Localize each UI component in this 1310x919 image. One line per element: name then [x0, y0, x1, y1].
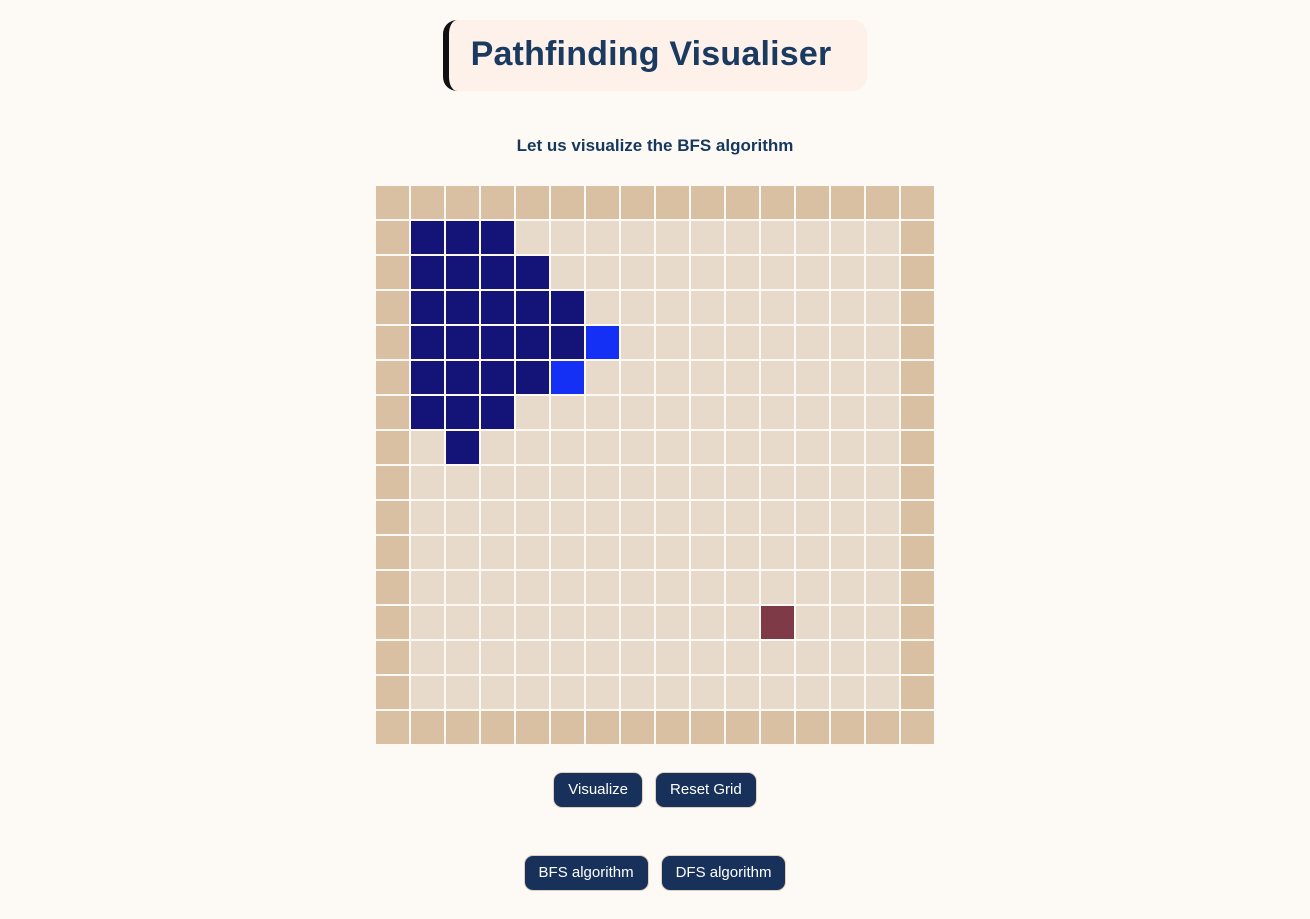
grid-cell-open[interactable] — [656, 326, 689, 359]
grid-cell-open[interactable] — [796, 361, 829, 394]
grid-cell-open[interactable] — [691, 536, 724, 569]
grid-cell-open[interactable] — [796, 326, 829, 359]
grid-cell-open[interactable] — [551, 536, 584, 569]
grid-cell-open[interactable] — [621, 606, 654, 639]
grid-cell-open[interactable] — [761, 536, 794, 569]
grid-cell-border — [376, 571, 409, 604]
grid-cell-open[interactable] — [551, 466, 584, 499]
grid-cell-open[interactable] — [831, 431, 864, 464]
grid-cell-border — [481, 186, 514, 219]
grid-cell-border — [691, 711, 724, 744]
grid-cell-border — [621, 186, 654, 219]
grid-cell-open[interactable] — [586, 431, 619, 464]
grid-cell-visited[interactable] — [516, 326, 549, 359]
grid-cell-open[interactable] — [761, 291, 794, 324]
grid-cell-open[interactable] — [621, 676, 654, 709]
grid-cell-open[interactable] — [726, 466, 759, 499]
grid-cell-open[interactable] — [446, 501, 479, 534]
grid-cell-open[interactable] — [866, 326, 899, 359]
grid-cell-open[interactable] — [411, 536, 444, 569]
grid-cell-open[interactable] — [726, 221, 759, 254]
grid-cell-border — [901, 396, 934, 429]
grid-cell-open[interactable] — [586, 361, 619, 394]
grid-cell-open[interactable] — [516, 536, 549, 569]
grid-cell-open[interactable] — [796, 291, 829, 324]
grid-cell-open[interactable] — [831, 256, 864, 289]
grid-cell-border — [656, 711, 689, 744]
grid-cell-open[interactable] — [831, 571, 864, 604]
grid-cell-visited[interactable] — [481, 221, 514, 254]
grid-cell-open[interactable] — [866, 641, 899, 674]
grid-cell-visited[interactable] — [551, 291, 584, 324]
reset-grid-button[interactable]: Reset Grid — [655, 772, 757, 808]
grid-cell-open[interactable] — [586, 571, 619, 604]
grid-cell-open[interactable] — [866, 396, 899, 429]
grid-cell-border — [901, 186, 934, 219]
grid-cell-open[interactable] — [656, 396, 689, 429]
title-banner: Pathfinding Visualiser — [443, 20, 868, 91]
grid-cell-open[interactable] — [516, 606, 549, 639]
grid-cell-border — [726, 186, 759, 219]
grid-cell-visited[interactable] — [411, 326, 444, 359]
grid-cell-open[interactable] — [516, 466, 549, 499]
grid-cell-open[interactable] — [796, 396, 829, 429]
grid-cell-open[interactable] — [761, 361, 794, 394]
grid-cell-border — [726, 711, 759, 744]
grid-cell-border — [901, 536, 934, 569]
grid-cell-open[interactable] — [586, 606, 619, 639]
grid-cell-open[interactable] — [551, 606, 584, 639]
grid-cell-open[interactable] — [831, 466, 864, 499]
grid-cell-open[interactable] — [481, 466, 514, 499]
grid-cell-open[interactable] — [831, 326, 864, 359]
grid-cell-border — [516, 711, 549, 744]
grid-cell-border — [866, 711, 899, 744]
grid-cell-visited[interactable] — [516, 256, 549, 289]
grid-cell-open[interactable] — [726, 676, 759, 709]
grid-cell-border — [901, 501, 934, 534]
grid-cell-border — [376, 711, 409, 744]
grid-cell-open[interactable] — [691, 606, 724, 639]
grid-cell-open[interactable] — [726, 361, 759, 394]
grid-cell-open[interactable] — [446, 676, 479, 709]
grid-cell-open[interactable] — [411, 466, 444, 499]
grid-cell-open[interactable] — [481, 431, 514, 464]
grid-cell-border — [376, 606, 409, 639]
grid-cell-border — [446, 186, 479, 219]
grid-cell-open[interactable] — [691, 291, 724, 324]
grid-cell-visited[interactable] — [446, 256, 479, 289]
grid-cell-open[interactable] — [726, 431, 759, 464]
grid-cell-open[interactable] — [761, 326, 794, 359]
subtitle-text: Let us visualize the BFS algorithm — [0, 136, 1310, 156]
grid-cell-visited[interactable] — [481, 256, 514, 289]
grid-cell-open[interactable] — [656, 606, 689, 639]
grid-cell-open[interactable] — [411, 641, 444, 674]
grid-cell-border — [376, 641, 409, 674]
grid-cell-open[interactable] — [516, 641, 549, 674]
grid-cell-open[interactable] — [586, 641, 619, 674]
grid-cell-open[interactable] — [796, 431, 829, 464]
grid-cell-open[interactable] — [761, 641, 794, 674]
grid-cell-open[interactable] — [586, 501, 619, 534]
grid-cell-open[interactable] — [481, 536, 514, 569]
grid-cell-open[interactable] — [831, 536, 864, 569]
grid-cell-open[interactable] — [656, 676, 689, 709]
grid-cell-border — [376, 291, 409, 324]
grid-cell-visited[interactable] — [411, 361, 444, 394]
grid-cell-border — [551, 186, 584, 219]
grid-cell-open[interactable] — [516, 571, 549, 604]
grid-cell-border — [376, 396, 409, 429]
grid-cell-open[interactable] — [411, 606, 444, 639]
grid-cell-open[interactable] — [761, 571, 794, 604]
grid-cell-border — [376, 501, 409, 534]
grid-cell-visited[interactable] — [446, 396, 479, 429]
grid-cell-border — [901, 571, 934, 604]
grid-cell-open[interactable] — [796, 676, 829, 709]
grid-cell-border — [901, 361, 934, 394]
grid-cell-open[interactable] — [516, 676, 549, 709]
grid-cell-open[interactable] — [761, 256, 794, 289]
grid-cell-visited[interactable] — [446, 291, 479, 324]
grid-cell-open[interactable] — [831, 641, 864, 674]
grid-cell-open[interactable] — [726, 396, 759, 429]
grid-cell-open[interactable] — [831, 291, 864, 324]
grid-cell-border — [481, 711, 514, 744]
grid-cell-open[interactable] — [551, 256, 584, 289]
grid-cell-border — [901, 221, 934, 254]
grid-cell-frontier[interactable] — [586, 326, 619, 359]
grid-cell-border — [376, 326, 409, 359]
grid-cell-open[interactable] — [621, 221, 654, 254]
grid-cell-open[interactable] — [691, 431, 724, 464]
grid-cell-border — [411, 711, 444, 744]
grid-cell-border — [376, 361, 409, 394]
grid-cell-open[interactable] — [621, 361, 654, 394]
dfs-algorithm-button[interactable]: DFS algorithm — [661, 855, 787, 891]
grid-cell-open[interactable] — [621, 501, 654, 534]
grid-cell-frontier[interactable] — [551, 361, 584, 394]
grid-cell-open[interactable] — [831, 606, 864, 639]
grid-cell-open[interactable] — [796, 536, 829, 569]
grid-cell-border — [796, 186, 829, 219]
grid-cell-open[interactable] — [726, 536, 759, 569]
grid-cell-border — [901, 466, 934, 499]
grid-cell-open[interactable] — [656, 536, 689, 569]
grid-cell-open[interactable] — [726, 501, 759, 534]
grid-cell-open[interactable] — [411, 431, 444, 464]
grid-cell-open[interactable] — [411, 501, 444, 534]
grid-cell-border — [901, 711, 934, 744]
grid-cell-open[interactable] — [481, 641, 514, 674]
grid-cell-open[interactable] — [796, 641, 829, 674]
grid-cell-open[interactable] — [586, 221, 619, 254]
grid-cell-open[interactable] — [481, 606, 514, 639]
grid-cell-visited[interactable] — [446, 326, 479, 359]
visualize-button[interactable]: Visualize — [553, 772, 643, 808]
grid-cell-open[interactable] — [656, 571, 689, 604]
grid-cell-open[interactable] — [866, 221, 899, 254]
grid-cell-open[interactable] — [761, 221, 794, 254]
grid-cell-open[interactable] — [726, 606, 759, 639]
grid-cell-visited[interactable] — [411, 256, 444, 289]
grid-cell-border — [901, 291, 934, 324]
grid-cell-border — [376, 221, 409, 254]
grid-cell-open[interactable] — [761, 431, 794, 464]
grid-cell-open[interactable] — [621, 256, 654, 289]
grid-cell-border — [656, 186, 689, 219]
grid-cell-target[interactable] — [761, 606, 794, 639]
grid-cell-open[interactable] — [796, 256, 829, 289]
grid-cell-open[interactable] — [831, 361, 864, 394]
grid-cell-open[interactable] — [796, 221, 829, 254]
grid-cell-border — [446, 711, 479, 744]
grid-cell-open[interactable] — [481, 571, 514, 604]
grid-cell-visited[interactable] — [411, 291, 444, 324]
grid-cell-open[interactable] — [691, 676, 724, 709]
grid-cell-open[interactable] — [621, 396, 654, 429]
grid-cell-border — [376, 256, 409, 289]
grid-cell-open[interactable] — [831, 221, 864, 254]
controls-row: Visualize Reset Grid — [0, 772, 1310, 808]
grid-cell-border — [551, 711, 584, 744]
grid-cell-open[interactable] — [586, 536, 619, 569]
grid-cell-open[interactable] — [551, 221, 584, 254]
grid-cell-border — [901, 641, 934, 674]
grid-cell-open[interactable] — [656, 641, 689, 674]
grid-cell-open[interactable] — [551, 641, 584, 674]
grid-cell-border — [901, 606, 934, 639]
grid-cell-open[interactable] — [516, 431, 549, 464]
grid-cell-open[interactable] — [586, 256, 619, 289]
grid-cell-open[interactable] — [481, 501, 514, 534]
grid-cell-visited[interactable] — [516, 361, 549, 394]
grid-cell-border — [516, 186, 549, 219]
grid-cell-open[interactable] — [621, 466, 654, 499]
grid-cell-open[interactable] — [446, 466, 479, 499]
grid-cell-open[interactable] — [726, 326, 759, 359]
grid-cell-open[interactable] — [831, 396, 864, 429]
grid-cell-visited[interactable] — [481, 326, 514, 359]
grid-cell-border — [901, 256, 934, 289]
grid-cell-open[interactable] — [551, 396, 584, 429]
grid-cell-open[interactable] — [691, 326, 724, 359]
grid-cell-open[interactable] — [446, 571, 479, 604]
grid-cell-open[interactable] — [481, 676, 514, 709]
grid-container — [0, 186, 1310, 744]
pathfinding-grid[interactable] — [376, 186, 934, 744]
grid-cell-open[interactable] — [726, 571, 759, 604]
grid-cell-open[interactable] — [866, 501, 899, 534]
grid-cell-open[interactable] — [516, 501, 549, 534]
grid-cell-open[interactable] — [411, 571, 444, 604]
grid-cell-visited[interactable] — [411, 396, 444, 429]
grid-cell-open[interactable] — [551, 431, 584, 464]
grid-cell-open[interactable] — [761, 501, 794, 534]
grid-cell-open[interactable] — [586, 676, 619, 709]
grid-cell-open[interactable] — [726, 291, 759, 324]
grid-cell-visited[interactable] — [411, 221, 444, 254]
grid-cell-open[interactable] — [516, 221, 549, 254]
grid-cell-open[interactable] — [761, 396, 794, 429]
grid-cell-visited[interactable] — [551, 326, 584, 359]
grid-cell-open[interactable] — [691, 501, 724, 534]
grid-cell-open[interactable] — [411, 676, 444, 709]
grid-cell-open[interactable] — [691, 256, 724, 289]
grid-cell-open[interactable] — [656, 291, 689, 324]
grid-cell-border — [586, 186, 619, 219]
title-banner-container: Pathfinding Visualiser — [0, 0, 1310, 91]
grid-cell-visited[interactable] — [481, 361, 514, 394]
grid-cell-border — [586, 711, 619, 744]
grid-cell-border — [376, 676, 409, 709]
grid-cell-open[interactable] — [691, 361, 724, 394]
grid-cell-open[interactable] — [866, 676, 899, 709]
grid-cell-open[interactable] — [656, 256, 689, 289]
grid-cell-visited[interactable] — [516, 291, 549, 324]
grid-cell-open[interactable] — [656, 221, 689, 254]
grid-cell-open[interactable] — [656, 501, 689, 534]
algorithms-row: BFS algorithm DFS algorithm — [0, 855, 1310, 891]
grid-cell-open[interactable] — [551, 501, 584, 534]
grid-cell-open[interactable] — [621, 326, 654, 359]
grid-cell-border — [376, 186, 409, 219]
grid-cell-open[interactable] — [866, 606, 899, 639]
grid-cell-border — [831, 711, 864, 744]
bfs-algorithm-button[interactable]: BFS algorithm — [524, 855, 649, 891]
page-title: Pathfinding Visualiser — [471, 34, 832, 75]
grid-cell-open[interactable] — [866, 431, 899, 464]
grid-cell-open[interactable] — [656, 361, 689, 394]
grid-cell-open[interactable] — [691, 221, 724, 254]
grid-cell-open[interactable] — [796, 571, 829, 604]
grid-cell-open[interactable] — [656, 431, 689, 464]
grid-cell-open[interactable] — [516, 396, 549, 429]
grid-cell-open[interactable] — [831, 501, 864, 534]
grid-cell-open[interactable] — [691, 641, 724, 674]
grid-cell-border — [901, 431, 934, 464]
grid-cell-open[interactable] — [866, 256, 899, 289]
grid-cell-open[interactable] — [761, 466, 794, 499]
grid-cell-visited[interactable] — [481, 291, 514, 324]
grid-cell-visited[interactable] — [481, 396, 514, 429]
grid-cell-open[interactable] — [656, 466, 689, 499]
grid-cell-open[interactable] — [761, 676, 794, 709]
grid-cell-open[interactable] — [621, 641, 654, 674]
grid-cell-border — [376, 431, 409, 464]
grid-cell-border — [621, 711, 654, 744]
grid-cell-open[interactable] — [621, 536, 654, 569]
grid-cell-open[interactable] — [796, 606, 829, 639]
grid-cell-open[interactable] — [586, 466, 619, 499]
grid-cell-border — [866, 186, 899, 219]
grid-cell-open[interactable] — [446, 641, 479, 674]
grid-cell-border — [796, 711, 829, 744]
grid-cell-open[interactable] — [551, 571, 584, 604]
grid-cell-border — [691, 186, 724, 219]
grid-cell-border — [376, 536, 409, 569]
grid-cell-visited[interactable] — [446, 431, 479, 464]
grid-cell-open[interactable] — [551, 676, 584, 709]
grid-cell-open[interactable] — [446, 606, 479, 639]
grid-cell-border — [761, 711, 794, 744]
grid-cell-border — [411, 186, 444, 219]
grid-cell-open[interactable] — [831, 676, 864, 709]
grid-cell-open[interactable] — [726, 256, 759, 289]
grid-cell-open[interactable] — [866, 536, 899, 569]
grid-cell-open[interactable] — [726, 641, 759, 674]
grid-cell-open[interactable] — [621, 431, 654, 464]
grid-cell-open[interactable] — [621, 571, 654, 604]
grid-cell-open[interactable] — [691, 396, 724, 429]
grid-cell-border — [761, 186, 794, 219]
grid-cell-open[interactable] — [691, 466, 724, 499]
grid-cell-open[interactable] — [796, 501, 829, 534]
grid-cell-border — [831, 186, 864, 219]
grid-cell-open[interactable] — [446, 536, 479, 569]
grid-cell-border — [376, 466, 409, 499]
grid-cell-open[interactable] — [866, 291, 899, 324]
grid-cell-border — [901, 676, 934, 709]
grid-cell-open[interactable] — [796, 466, 829, 499]
grid-cell-visited[interactable] — [446, 221, 479, 254]
grid-cell-open[interactable] — [866, 571, 899, 604]
grid-cell-open[interactable] — [586, 396, 619, 429]
grid-cell-visited[interactable] — [446, 361, 479, 394]
grid-cell-open[interactable] — [586, 291, 619, 324]
grid-cell-open[interactable] — [866, 466, 899, 499]
grid-cell-border — [901, 326, 934, 359]
grid-cell-open[interactable] — [866, 361, 899, 394]
grid-cell-open[interactable] — [691, 571, 724, 604]
grid-cell-open[interactable] — [621, 291, 654, 324]
